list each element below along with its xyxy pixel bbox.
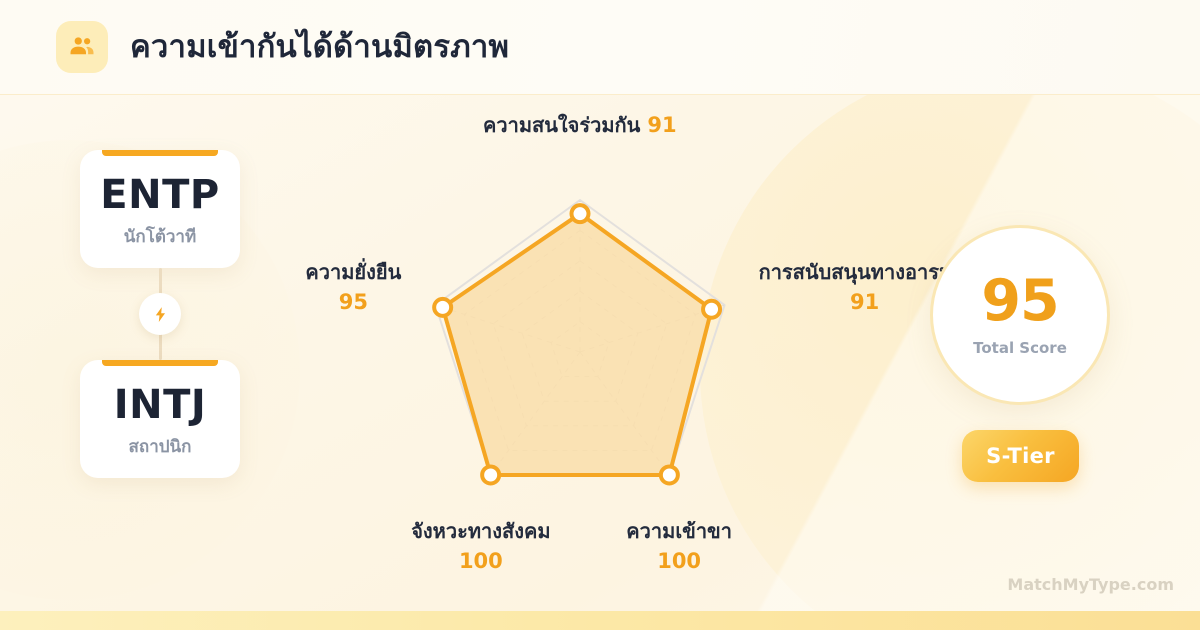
axis-label-chemistry: ความเข้าขา100 — [626, 519, 732, 574]
total-score-badge: 95 Total Score — [930, 225, 1110, 405]
type-code-first: ENTP — [88, 174, 232, 216]
radar-point-1 — [703, 301, 720, 318]
axis-value-3: 100 — [411, 548, 550, 574]
radar-chart-svg — [290, 110, 880, 600]
axis-value-4: 95 — [305, 289, 401, 315]
type-card-first[interactable]: ENTP นักโต้วาที — [80, 150, 240, 268]
tier-badge-label: S-Tier — [986, 444, 1055, 468]
axis-value-2: 100 — [626, 548, 732, 574]
radar-point-0 — [572, 205, 589, 222]
radar-chart: ความสนใจร่วมกัน91 การสนับสนุนทางอารมณ์91… — [290, 110, 880, 600]
axis-title-0: ความสนใจร่วมกัน — [483, 113, 640, 137]
axis-value-0: 91 — [647, 113, 676, 137]
total-score-label: Total Score — [973, 339, 1067, 357]
type-code-second: INTJ — [88, 384, 232, 426]
type-name-second: สถาปนิก — [88, 436, 232, 458]
page-title: ความเข้ากันได้ด้านมิตรภาพ — [130, 28, 509, 67]
axis-title-4: ความยั่งยืน — [305, 260, 401, 284]
axis-label-social-rhythm: จังหวะทางสังคม100 — [411, 519, 550, 574]
radar-data-area — [443, 214, 712, 475]
type-card-second[interactable]: INTJ สถาปนิก — [80, 360, 240, 478]
axis-title-3: จังหวะทางสังคม — [411, 519, 550, 543]
radar-point-3 — [482, 466, 499, 483]
bottom-accent-bar — [0, 611, 1200, 630]
tier-badge[interactable]: S-Tier — [962, 430, 1079, 482]
infographic-root: ความเข้ากันได้ด้านมิตรภาพ ENTP นักโต้วาท… — [0, 0, 1200, 630]
radar-point-4 — [434, 299, 451, 316]
axis-title-2: ความเข้าขา — [626, 519, 732, 543]
type-connector — [80, 268, 240, 360]
lightning-bolt-icon — [139, 293, 181, 335]
people-group-icon — [56, 21, 108, 73]
axis-label-sustainability: ความยั่งยืน95 — [305, 260, 401, 315]
axis-label-shared-interests: ความสนใจร่วมกัน91 — [483, 112, 677, 138]
type-pair-panel: ENTP นักโต้วาที INTJ สถาปนิก — [80, 150, 240, 478]
total-score-value: 95 — [981, 273, 1058, 330]
type-name-first: นักโต้วาที — [88, 226, 232, 248]
header-bar: ความเข้ากันได้ด้านมิตรภาพ — [0, 0, 1200, 95]
site-watermark: MatchMyType.com — [1007, 575, 1174, 594]
radar-point-2 — [661, 466, 678, 483]
